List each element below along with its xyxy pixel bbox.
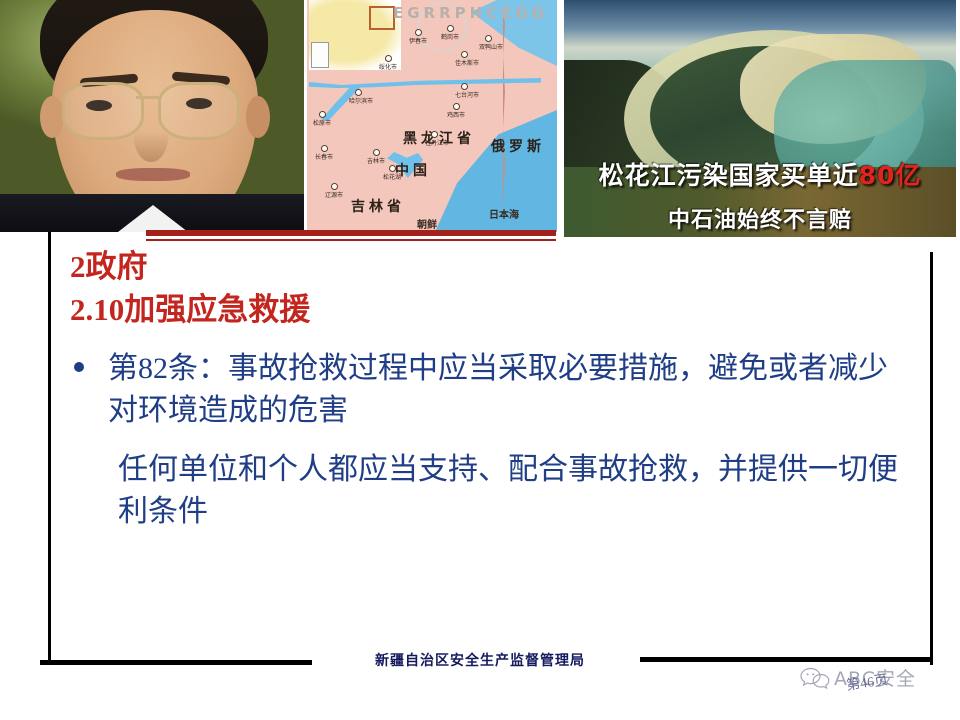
map-label: 辽源市	[325, 190, 343, 199]
map-label: 哈尔滨市	[349, 96, 373, 105]
frame-border-right	[930, 252, 933, 665]
map-city-marker	[415, 29, 422, 36]
map-city-marker	[355, 89, 362, 96]
map-city-marker	[331, 183, 338, 190]
map-label: 松原市	[313, 118, 331, 127]
portrait-ear-left	[40, 96, 64, 138]
map-label: 俄罗斯	[491, 136, 545, 156]
portrait-nose	[134, 112, 168, 162]
subsection-heading: 2.10加强应急救援	[66, 289, 906, 332]
map-label: 日本海	[489, 206, 519, 221]
watermark-text: ABC安全	[834, 664, 916, 691]
map-inset-highlight-box	[369, 6, 395, 30]
map-city-marker	[319, 111, 326, 118]
map-label: 牡丹江市	[425, 138, 449, 147]
bullet-list: 第82条：事故抢救过程中应当采取必要措施，避免或者减少对环境造成的危害 任何单位…	[66, 348, 906, 534]
map-label: 朝鲜	[417, 216, 437, 231]
map-label: 长春市	[315, 152, 333, 161]
map-city-marker	[373, 149, 380, 156]
section-heading: 2政府	[66, 246, 906, 289]
map-label: 吉林市	[367, 156, 385, 165]
map-label: 鸡西市	[447, 110, 465, 119]
map-label: 吉林省	[351, 196, 405, 216]
portrait-ear-right	[246, 96, 270, 138]
map-city-marker	[453, 103, 460, 110]
slide-canvas: EGRRPHCEGG 黑龙江省中国吉林省俄罗斯朝鲜日本海哈尔滨市佳木斯市伊春市鹤…	[0, 0, 960, 720]
map-header-text: EGRRPHCEGG	[393, 4, 548, 22]
map-city-marker	[447, 25, 454, 32]
songhua-river-main	[309, 78, 541, 88]
portrait-mouth	[116, 168, 190, 181]
eyeglasses-lens-left	[62, 82, 144, 140]
divider-red-thick	[146, 230, 556, 236]
portrait-photo	[0, 0, 304, 232]
bullet-item-text: 第82条：事故抢救过程中应当采取必要措施，避免或者减少对环境造成的危害	[66, 348, 906, 433]
river-headline-prefix: 松花江污染国家买单近	[599, 161, 859, 190]
wechat-icon	[800, 667, 830, 689]
eyeglasses-bridge	[136, 96, 160, 99]
river-headline: 松花江污染国家买单近80亿	[564, 156, 956, 192]
slide-body: 2政府 2.10加强应急救援 第82条：事故抢救过程中应当采取必要措施，避免或者…	[66, 246, 906, 534]
river-headline-accent: 80亿	[859, 161, 922, 190]
bullet-item-text: 任何单位和个人都应当支持、配合事故抢救，并提供一切便利条件	[66, 449, 906, 534]
map-legend-box	[311, 42, 329, 68]
frame-border-left	[48, 232, 51, 662]
map-city-marker	[389, 165, 396, 172]
map-city-marker	[385, 55, 392, 62]
divider-red-thin	[146, 239, 556, 241]
map-city-marker	[431, 131, 438, 138]
map-label: 七台河市	[455, 90, 479, 99]
watermark: ABC安全	[800, 664, 916, 691]
songhua-river-pollution-photo: 松花江污染国家买单近80亿 中石油始终不言赔	[564, 0, 956, 237]
river-subline: 中石油始终不言赔	[564, 202, 956, 234]
northeast-china-map: EGRRPHCEGG 黑龙江省中国吉林省俄罗斯朝鲜日本海哈尔滨市佳木斯市伊春市鹤…	[307, 0, 557, 232]
map-city-marker	[461, 83, 468, 90]
map-label: 松花湖	[383, 172, 401, 181]
map-label: 佳木斯市	[455, 58, 479, 67]
map-label: 伊春市	[409, 36, 427, 45]
map-city-marker	[321, 145, 328, 152]
eyeglasses-lens-right	[158, 82, 240, 140]
map-label: 双鸭山市	[479, 42, 503, 51]
map-label: 绥化市	[379, 62, 397, 71]
map-label: 鹤岗市	[441, 32, 459, 41]
map-city-marker	[485, 35, 492, 42]
map-city-marker	[461, 51, 468, 58]
bullet-dot-icon	[74, 362, 84, 372]
